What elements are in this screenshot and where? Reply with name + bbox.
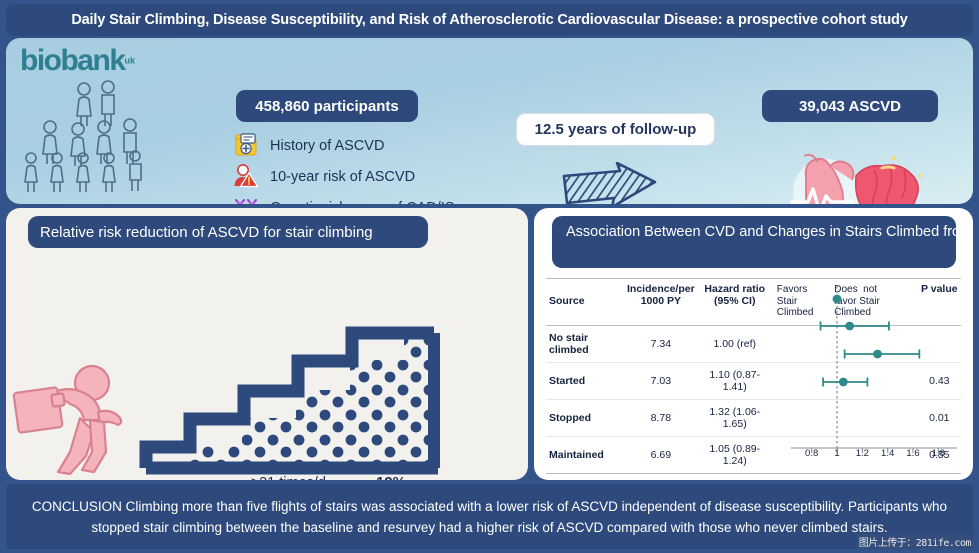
bullet-label: 10-year risk of ASCVD	[266, 169, 415, 185]
cell-incidence: 6.69	[625, 436, 697, 473]
table-header-row: Source Incidence/per1000 PY Hazard ratio…	[546, 279, 961, 326]
heart-brain-icon	[778, 146, 928, 204]
axis-tick-label: 1.6	[906, 448, 919, 459]
forest-plot-panel: Association Between CVD and Changes in S…	[534, 208, 973, 480]
page-title: Daily Stair Climbing, Disease Susceptibi…	[6, 4, 973, 36]
uk-biobank-logo: biobankuk	[20, 44, 210, 78]
col-header-incidence: Incidence/per1000 PY	[625, 279, 697, 326]
col-header-source: Source	[546, 279, 625, 326]
axis-tick-label: 1	[834, 448, 839, 459]
forest-plot-table: Source Incidence/per1000 PY Hazard ratio…	[546, 278, 961, 474]
cohort-overview-panel: biobankuk	[6, 38, 973, 204]
axis-tick-label: 1.2	[856, 448, 869, 459]
cell-incidence: 7.03	[625, 362, 697, 399]
forest-panel-header: Association Between CVD and Changes in S…	[552, 216, 956, 268]
cell-pvalue	[918, 325, 961, 362]
cell-source: No stair climbed	[546, 325, 625, 362]
cell-hazard-ratio: 1.10 (0.87-1.41)	[697, 362, 773, 399]
cell-source: Maintained	[546, 436, 625, 473]
infographic-root: Daily Stair Climbing, Disease Susceptibi…	[0, 0, 979, 553]
bullet-ten-year-risk: 10-year risk of ASCVD	[232, 161, 455, 192]
participants-stat-pill: 458,860 participants	[236, 90, 418, 122]
flow-arrow-icon	[562, 162, 658, 204]
stair-step-pct-4: 19%	[376, 474, 406, 480]
col-header-pvalue: P value	[918, 279, 961, 326]
cell-forest-marker	[773, 399, 918, 436]
cell-hazard-ratio: 1.00 (ref)	[697, 325, 773, 362]
person-risk-icon	[232, 163, 266, 191]
exposure-bullet-list: History of ASCVD 10-year risk of ASCVD	[232, 130, 455, 204]
stair-climber-person-icon	[10, 360, 138, 476]
axis-tick-label: 1.4	[881, 448, 894, 459]
bullet-genetic-risk: Genetic risk score of CAD/IS	[232, 192, 455, 204]
col-header-hazard-ratio: Hazard ratio(95% CI)	[697, 279, 773, 326]
cell-incidence: 7.34	[625, 325, 697, 362]
stair-step-label-4: ≥21 times/d	[184, 475, 326, 480]
medical-record-icon	[232, 132, 266, 160]
followup-duration-pill: 12.5 years of follow-up	[516, 113, 715, 146]
col-header-favors-stair: FavorsStairClimbed	[773, 279, 832, 326]
cell-pvalue: 0.01	[918, 399, 961, 436]
axis-tick-label: 1.8	[932, 448, 945, 459]
cell-source: Started	[546, 362, 625, 399]
logo-superscript: uk	[125, 56, 136, 66]
stair-climbing-panel: Relative risk reduction of ASCVD for sta…	[6, 208, 528, 480]
cell-forest-marker	[773, 325, 918, 362]
population-people-icon	[18, 80, 193, 198]
forest-axis-labels: 0.811.21.41.61.8	[799, 448, 951, 461]
cell-hazard-ratio: 1.32 (1.06-1.65)	[697, 399, 773, 436]
watermark: 图片上传于：281ife.com	[857, 534, 973, 549]
table-row: Started 7.03 1.10 (0.87-1.41) 0.43	[546, 362, 961, 399]
ascvd-events-stat-pill: 39,043 ASCVD	[762, 90, 938, 122]
cell-hazard-ratio: 1.05 (0.89-1.24)	[697, 436, 773, 473]
col-header-does-not-favor: Does notfavor StairClimbed	[832, 279, 917, 326]
table-row: Stopped 8.78 1.32 (1.06-1.65) 0.01	[546, 399, 961, 436]
bullet-label: History of ASCVD	[266, 138, 384, 154]
conclusion-banner: CONCLUSION Climbing more than five fligh…	[6, 484, 973, 549]
cell-incidence: 8.78	[625, 399, 697, 436]
cell-source: Stopped	[546, 399, 625, 436]
logo-wordmark: biobank	[20, 44, 125, 78]
axis-tick-label: 0.8	[805, 448, 818, 459]
cell-pvalue: 0.43	[918, 362, 961, 399]
bullet-label: Genetic risk score of CAD/IS	[266, 200, 455, 205]
bullet-history-ascvd: History of ASCVD	[232, 130, 455, 161]
cell-forest-marker	[773, 362, 918, 399]
table-row: No stair climbed 7.34 1.00 (ref)	[546, 325, 961, 362]
dna-icon	[232, 194, 266, 205]
